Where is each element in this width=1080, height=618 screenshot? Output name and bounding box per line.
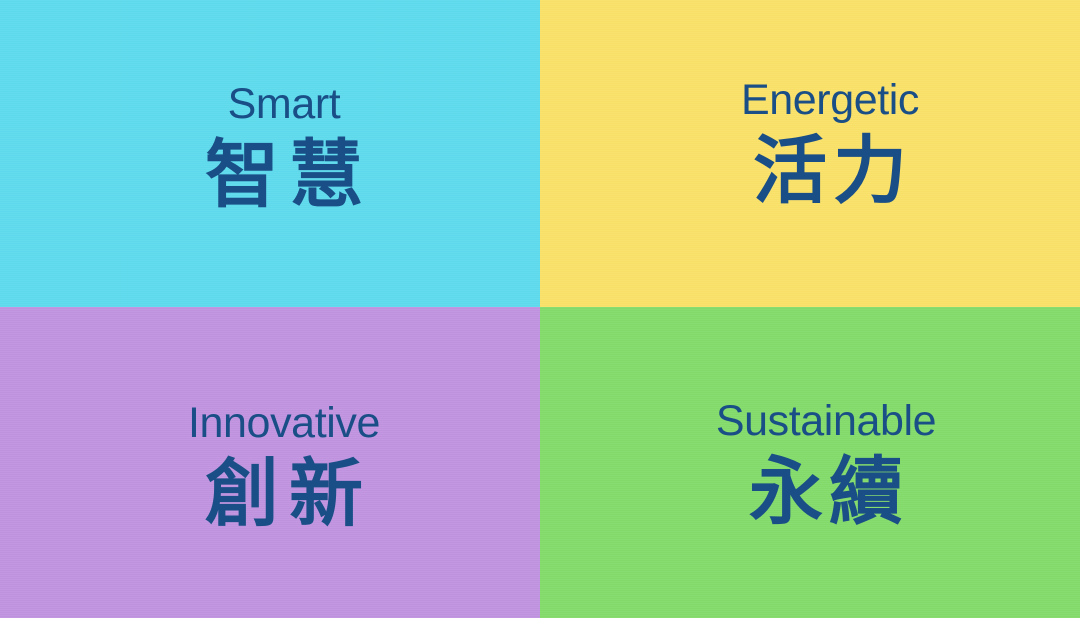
value-card-energetic-text: Energetic 活力	[741, 79, 919, 211]
value-card-energetic-english-label: Energetic	[741, 79, 919, 123]
value-card-sustainable[interactable]: Sustainable 永續	[540, 307, 1080, 618]
brand-values-board: Smart 智慧 Energetic 活力 Innovative 創新 Sust…	[0, 0, 1080, 618]
value-grid: Smart 智慧 Energetic 活力 Innovative 創新 Sust…	[0, 0, 1080, 618]
value-card-smart-chinese-label: 智慧	[195, 134, 373, 215]
value-card-sustainable-english-label: Sustainable	[716, 400, 936, 444]
value-card-smart-text: Smart 智慧	[195, 83, 373, 215]
value-card-energetic[interactable]: Energetic 活力	[540, 0, 1080, 307]
value-card-sustainable-chinese-label: 永續	[716, 451, 936, 532]
value-card-innovative[interactable]: Innovative 創新	[0, 307, 540, 618]
value-card-sustainable-text: Sustainable 永續	[716, 400, 936, 532]
value-card-innovative-chinese-label: 創新	[188, 453, 380, 534]
value-card-smart[interactable]: Smart 智慧	[0, 0, 540, 307]
value-card-innovative-text: Innovative 創新	[188, 402, 380, 534]
value-card-smart-english-label: Smart	[195, 83, 373, 127]
value-card-energetic-chinese-label: 活力	[741, 130, 919, 211]
value-card-innovative-english-label: Innovative	[188, 402, 380, 446]
